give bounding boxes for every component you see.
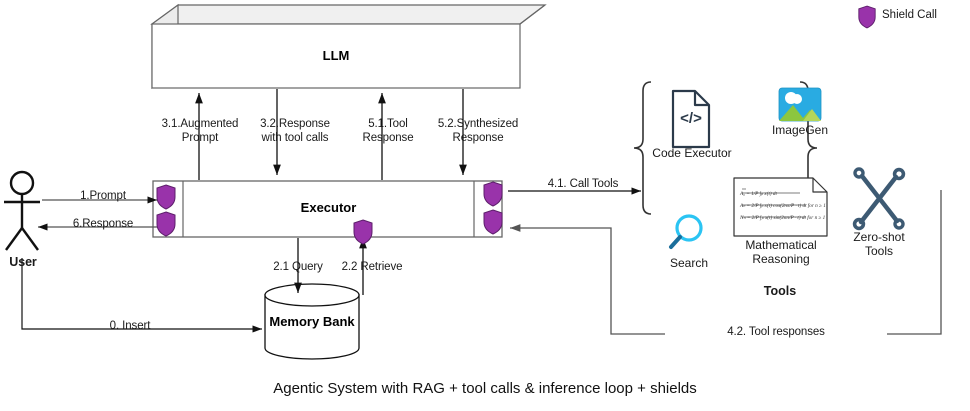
shield-icon-executor-in-prompt	[155, 184, 177, 210]
shield-icon-executor-in-tool-responses	[482, 209, 504, 235]
tool-label-zero-shot[interactable]: Zero-shot Tools	[842, 230, 916, 258]
tool-label-math-reasoning[interactable]: Mathematical Reasoning	[738, 238, 824, 266]
edge-label-retrieve: 2.2 Retrieve	[330, 261, 414, 275]
crossed-wrench-screwdriver-icon	[855, 169, 904, 228]
edge-label-prompt: 1.Prompt	[57, 190, 149, 204]
edge-label-response: 6.Response	[52, 218, 154, 232]
svg-text:Aₙ = 2/P ∫ₚ x(t) cos(2nπ/P · t: Aₙ = 2/P ∫ₚ x(t) cos(2nπ/P · t) dt for n…	[739, 202, 826, 209]
svg-text:Nₙ = 2/P ∫ₚ x(t) sin(2nπ/P · t: Nₙ = 2/P ∫ₚ x(t) sin(2nπ/P · t) dt for n…	[739, 214, 826, 221]
image-thumbnail-icon	[779, 88, 821, 121]
user-label: User	[0, 256, 46, 270]
diagram-canvas: A₀ = 1/P ∫ₚ x(t) dt Aₙ = 2/P ∫ₚ x(t) cos…	[0, 0, 970, 411]
edge-label-response-with-tool-calls: 3.2.Response with tool calls	[235, 118, 355, 145]
edge-label-synthesized-response: 5.2.Synthesized Response	[422, 118, 534, 145]
shield-icon-executor-out-response	[155, 211, 177, 237]
tool-label-code-executor[interactable]: Code Executor	[648, 146, 736, 160]
edge-label-insert: 0. Insert	[75, 320, 185, 334]
shield-icon-executor-out-tools	[482, 181, 504, 207]
memory-bank-label: Memory Bank	[265, 314, 359, 329]
llm-node[interactable]	[152, 5, 545, 88]
diagram-caption: Agentic System with RAG + tool calls & i…	[0, 380, 970, 397]
formula-document-icon: A₀ = 1/P ∫ₚ x(t) dt Aₙ = 2/P ∫ₚ x(t) cos…	[734, 178, 827, 236]
magnifier-icon	[671, 216, 701, 247]
tool-label-image-gen[interactable]: ImageGen	[762, 123, 838, 137]
edge-label-call-tools: 4.1. Call Tools	[535, 178, 631, 192]
tool-label-search[interactable]: Search	[655, 256, 723, 270]
svg-text:A₀ = 1/P ∫ₚ x(t) dt: A₀ = 1/P ∫ₚ x(t) dt	[739, 190, 778, 197]
tools-group-label: Tools	[740, 284, 820, 298]
edge-insert	[22, 258, 262, 329]
legend-shield-label: Shield Call	[882, 9, 937, 21]
executor-label: Executor	[183, 200, 474, 215]
edge-label-tool-responses: 4.2. Tool responses	[665, 326, 887, 340]
llm-label: LLM	[152, 48, 520, 63]
code-glyph: </>	[673, 110, 709, 127]
shield-icon-legend	[857, 5, 877, 29]
edge-tool-responses	[510, 190, 941, 334]
shield-icon-executor-memory	[352, 219, 374, 245]
edge-label-query: 2.1 Query	[258, 261, 338, 275]
user-actor[interactable]	[4, 172, 40, 250]
